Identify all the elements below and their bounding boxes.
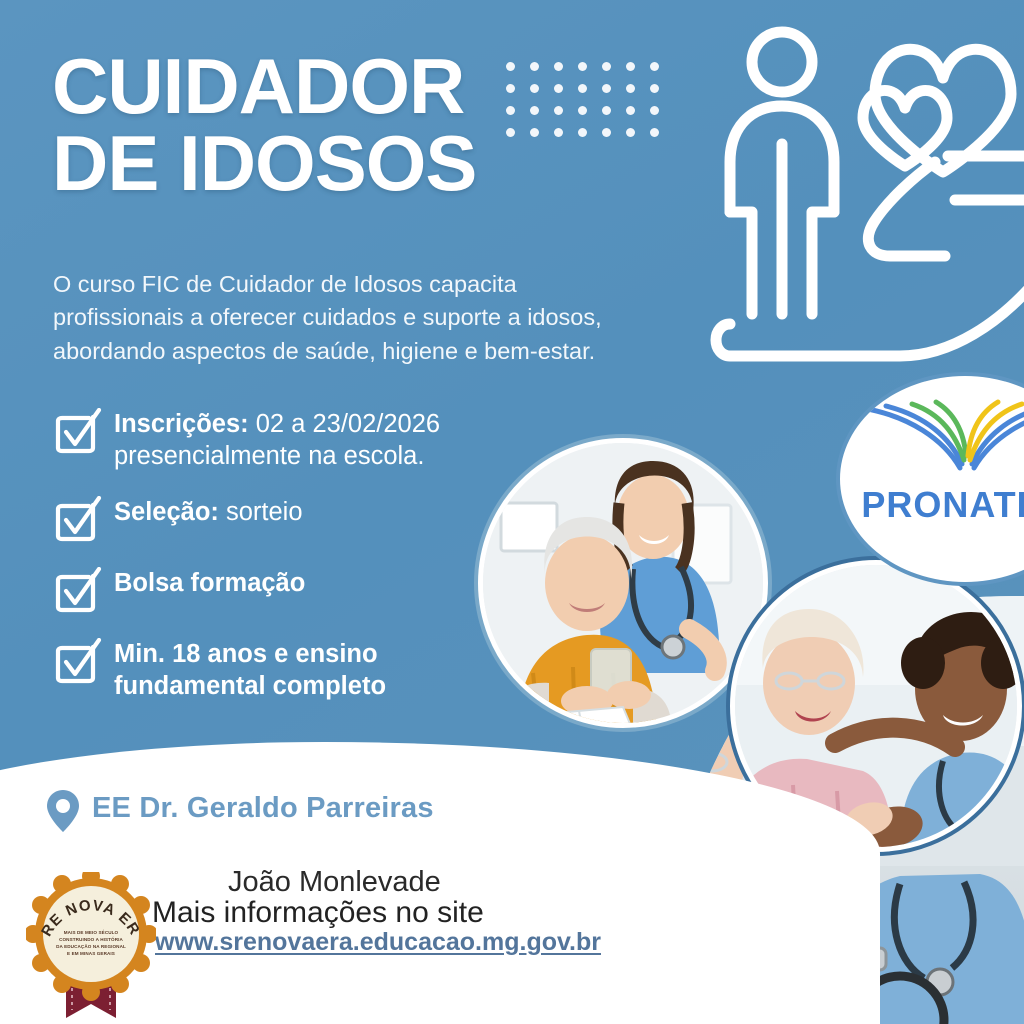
location-pin-icon <box>44 788 82 834</box>
poster-title: CUIDADOR DE IDOSOS <box>52 48 522 202</box>
checkbox-checked-icon <box>52 638 106 686</box>
checklist-item-value: sorteio <box>219 498 303 526</box>
checklist-item: Seleção: sorteio <box>52 494 522 544</box>
poster-canvas: CUIDADOR DE IDOSOS O curso FIC de Cuidad… <box>0 0 1024 1024</box>
checklist-item-label: Seleção: <box>114 498 219 526</box>
checklist-item-text: Inscrições: 02 a 23/02/2026 presencialme… <box>114 406 522 473</box>
checklist-item-text: Min. 18 anos e ensino fundamental comple… <box>114 636 522 703</box>
city-name: João Monlevade <box>228 866 441 899</box>
checklist-item-label: Min. 18 anos e ensino fundamental comple… <box>114 640 386 700</box>
checkbox-checked-icon <box>52 408 106 456</box>
website-link[interactable]: www.srenovaera.educacao.mg.gov.br <box>155 928 601 957</box>
checklist-item: Inscrições: 02 a 23/02/2026 presencialme… <box>52 406 522 473</box>
checklist-item-text: Seleção: sorteio <box>114 494 303 529</box>
checklist-item-text: Bolsa formação <box>114 565 305 600</box>
pronatec-logo-badge: PRONATEC <box>836 372 1024 586</box>
seal-line-4: E EM MINAS GERAIS <box>26 951 156 958</box>
school-name: EE Dr. Geraldo Parreiras <box>92 792 434 825</box>
checkbox-checked-icon <box>52 496 106 544</box>
caregiving-lineart-icon <box>700 0 1024 384</box>
pronatec-label: PRONATEC <box>840 484 1024 526</box>
checklist-item-label: Bolsa formação <box>114 569 305 597</box>
more-info-text: Mais informações no site <box>152 896 484 930</box>
course-description: O curso FIC de Cuidador de Idosos capaci… <box>53 268 653 368</box>
seal-inner-text: MAIS DE MEIO SÉCULO CONSTRUINDO A HISTÓR… <box>26 930 156 958</box>
seal-line-2: CONSTRUINDO A HISTÓRIA <box>26 937 156 944</box>
checklist-item: Bolsa formação <box>52 565 522 615</box>
pronatec-book-icon <box>840 376 1024 486</box>
requirements-checklist: Inscrições: 02 a 23/02/2026 presencialme… <box>52 406 522 722</box>
dot-grid-decoration <box>506 62 674 150</box>
title-line-1: CUIDADOR <box>52 42 464 130</box>
title-line-2: DE IDOSOS <box>52 125 522 202</box>
checklist-item: Min. 18 anos e ensino fundamental comple… <box>52 636 522 703</box>
checkbox-checked-icon <box>52 567 106 615</box>
seal-line-3: DA EDUCAÇÃO NA REGIONAL <box>26 944 156 951</box>
checklist-item-label: Inscrições: <box>114 410 249 438</box>
seal-line-1: MAIS DE MEIO SÉCULO <box>26 930 156 937</box>
sre-nova-era-seal: SRE NOVA ERA MAIS DE MEIO SÉCULO CONSTRU… <box>26 872 156 1024</box>
